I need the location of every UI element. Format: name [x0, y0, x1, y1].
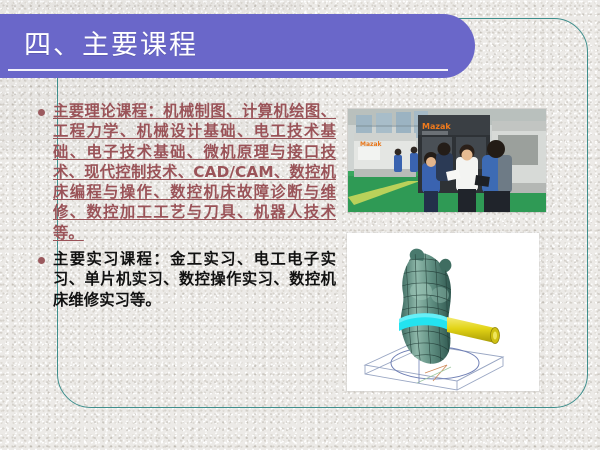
cnc-workshop-photo: Mazak Mazak — [348, 109, 546, 212]
content-body: 主要理论课程：机械制图、计算机绘图、工程力学、机械设计基础、电工技术基础、电子技… — [36, 101, 336, 314]
bullet-dot-icon — [38, 109, 45, 116]
page-title: 四、主要课程 — [24, 30, 198, 62]
bullet-text-practice: 主要实习课程：金工实习、电工电子实习、单片机实习、数控操作实习、数控机床维修实习… — [53, 249, 336, 310]
bullet-text-theory: 主要理论课程：机械制图、计算机绘图、工程力学、机械设计基础、电工技术基础、电子技… — [53, 101, 336, 243]
svg-text:Mazak: Mazak — [360, 141, 383, 148]
watermark-text — [150, 394, 450, 406]
bullet-dot-icon — [38, 257, 45, 264]
cadcam-model-screenshot — [347, 233, 539, 391]
list-item: 主要实习课程：金工实习、电工电子实习、单片机实习、数控操作实习、数控机床维修实习… — [36, 249, 336, 310]
svg-text:Mazak: Mazak — [422, 122, 451, 131]
title-underline-rule — [8, 69, 448, 72]
title-band: 四、主要课程 — [0, 14, 475, 78]
list-item: 主要理论课程：机械制图、计算机绘图、工程力学、机械设计基础、电工技术基础、电子技… — [36, 101, 336, 243]
slide-canvas: 四、主要课程 主要理论课程：机械制图、计算机绘图、工程力学、机械设计基础、电工技… — [0, 0, 600, 450]
